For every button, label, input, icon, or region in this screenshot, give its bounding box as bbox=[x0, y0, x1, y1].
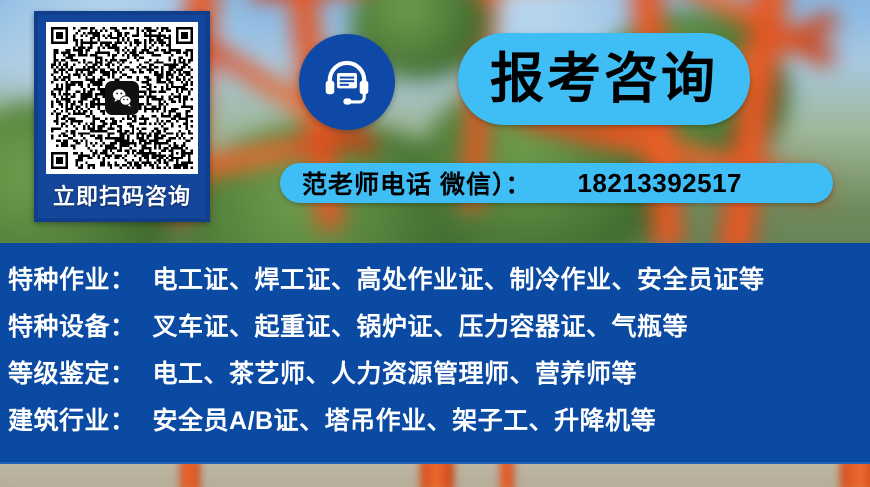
wechat-icon bbox=[105, 81, 139, 115]
category-row: 特种设备： 叉车证、起重证、锅炉证、压力容器证、气瓶等 bbox=[8, 307, 870, 354]
bottom-photo-strip bbox=[0, 464, 870, 487]
qr-code-image[interactable] bbox=[46, 22, 198, 174]
category-name: 特种设备： bbox=[8, 307, 136, 343]
category-items: 安全员A/B证、塔吊作业、架子工、升降机等 bbox=[153, 401, 657, 437]
qr-label: 立即扫码咨询 bbox=[38, 180, 206, 214]
contact-badge[interactable]: 范老师电话 微信）： 18213392517 bbox=[280, 163, 833, 203]
headset-support-icon bbox=[299, 34, 395, 130]
category-items: 电工证、焊工证、高处作业证、制冷作业、安全员证等 bbox=[153, 260, 765, 296]
category-name: 建筑行业： bbox=[8, 401, 136, 437]
title-badge: 报考咨询 bbox=[458, 33, 750, 125]
category-items: 电工、茶艺师、人力资源管理师、营养师等 bbox=[153, 354, 638, 390]
category-name: 等级鉴定： bbox=[8, 354, 136, 390]
category-row: 特种作业： 电工证、焊工证、高处作业证、制冷作业、安全员证等 bbox=[8, 260, 870, 307]
category-items: 叉车证、起重证、锅炉证、压力容器证、气瓶等 bbox=[153, 307, 689, 343]
page-title: 报考咨询 bbox=[490, 52, 718, 106]
promo-poster: 立即扫码咨询 报考咨询 范老师电话 微信）： 18213392517 特种作业：… bbox=[0, 0, 870, 487]
category-row: 等级鉴定： 电工、茶艺师、人力资源管理师、营养师等 bbox=[8, 354, 870, 401]
category-row: 建筑行业： 安全员A/B证、塔吊作业、架子工、升降机等 bbox=[8, 401, 870, 448]
qr-card[interactable]: 立即扫码咨询 bbox=[34, 11, 210, 222]
category-name: 特种作业： bbox=[8, 260, 136, 296]
categories-panel: 特种作业： 电工证、焊工证、高处作业证、制冷作业、安全员证等 特种设备： 叉车证… bbox=[0, 243, 870, 464]
contact-label: 范老师电话 微信）： bbox=[302, 165, 531, 201]
contact-phone-number[interactable]: 18213392517 bbox=[577, 168, 742, 199]
qr-matrix bbox=[51, 27, 193, 169]
